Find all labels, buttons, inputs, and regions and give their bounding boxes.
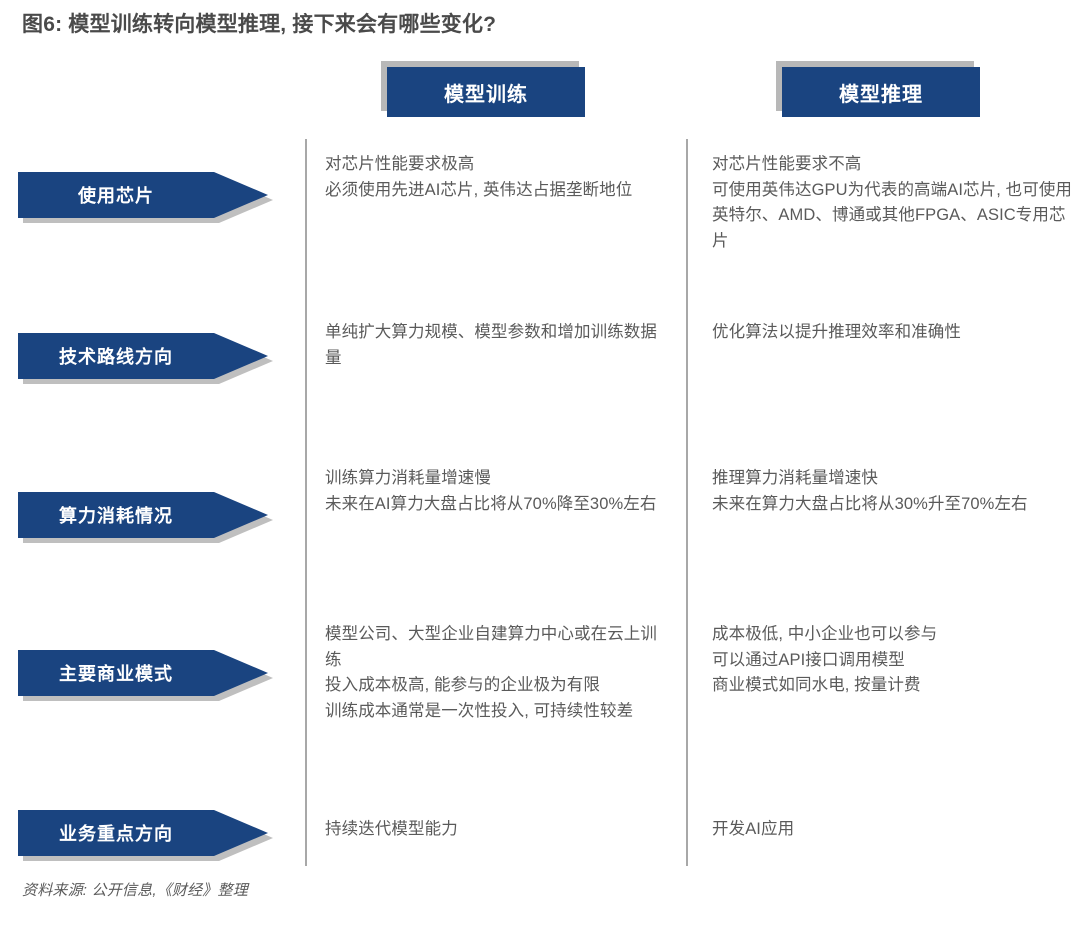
column-header-inference: 模型推理 — [782, 67, 980, 117]
row-label-arrow-chips: 主要商业模式 — [18, 650, 268, 696]
column-divider-right — [686, 139, 688, 866]
row-label-arrow-chips: 使用芯片 — [18, 172, 268, 218]
cell-training: 模型公司、大型企业自建算力中心或在云上训练 投入成本极高, 能参与的企业极为有限… — [325, 622, 673, 725]
row-label: 使用芯片 — [18, 182, 214, 208]
figure-panel: 图6: 模型训练转向模型推理, 接下来会有哪些变化? 模型训练 模型推理 使用芯… — [0, 0, 1080, 926]
row-label: 主要商业模式 — [18, 660, 214, 686]
cell-inference: 优化算法以提升推理效率和准确性 — [712, 320, 1072, 346]
cell-inference: 对芯片性能要求不高 可使用英伟达GPU为代表的高端AI芯片, 也可使用英特尔、A… — [712, 152, 1072, 255]
cell-training: 单纯扩大算力规模、模型参数和增加训练数据量 — [325, 320, 673, 371]
row-label: 技术路线方向 — [18, 343, 214, 369]
row-label: 算力消耗情况 — [18, 502, 214, 528]
source-note: 资料来源: 公开信息,《财经》整理 — [22, 879, 248, 900]
column-header-training: 模型训练 — [387, 67, 585, 117]
cell-training: 对芯片性能要求极高 必须使用先进AI芯片, 英伟达占据垄断地位 — [325, 152, 673, 203]
cell-training: 持续迭代模型能力 — [325, 817, 673, 843]
row-label-arrow-chips: 技术路线方向 — [18, 333, 268, 379]
cell-inference: 成本极低, 中小企业也可以参与 可以通过API接口调用模型 商业模式如同水电, … — [712, 622, 1072, 699]
column-divider-left — [305, 139, 307, 866]
cell-training: 训练算力消耗量增速慢 未来在AI算力大盘占比将从70%降至30%左右 — [325, 466, 673, 517]
row-label-arrow-chips: 业务重点方向 — [18, 810, 268, 856]
row-label-arrow-chips: 算力消耗情况 — [18, 492, 268, 538]
cell-inference: 推理算力消耗量增速快 未来在算力大盘占比将从30%升至70%左右 — [712, 466, 1072, 517]
page-title: 图6: 模型训练转向模型推理, 接下来会有哪些变化? — [22, 12, 1052, 38]
row-label: 业务重点方向 — [18, 820, 214, 846]
cell-inference: 开发AI应用 — [712, 817, 1072, 843]
